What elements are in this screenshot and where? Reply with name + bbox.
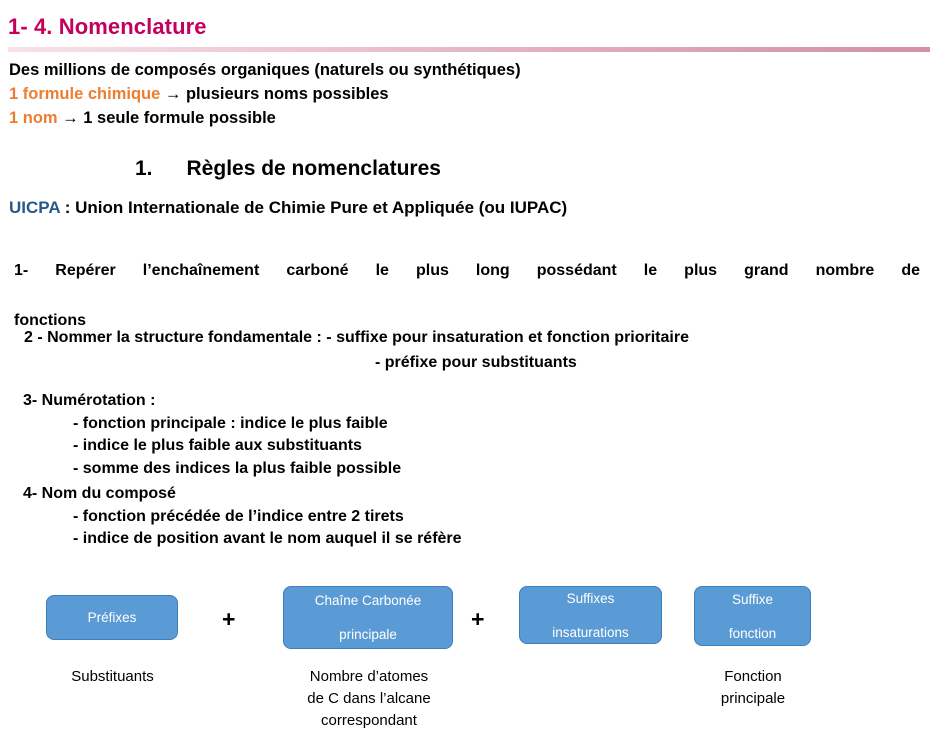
diagram-caption-nombre-line-2: de C dans l’alcane (307, 690, 430, 707)
rule-3: 3- Numérotation : - fonction principale … (23, 390, 401, 480)
page-title: 1- 4. Nomenclature (8, 14, 207, 40)
diagram-caption-fonction-line-1: Fonction (724, 668, 782, 685)
rule-4-item-1: - fonction précédée de l’indice entre 2 … (23, 506, 462, 529)
diagram-node-suffixes-line-1: Suffixes (546, 590, 635, 607)
diagram-node-suffixe-fonction-line-1: Suffixe (723, 591, 782, 608)
intro-line-3-highlight: 1 nom (9, 109, 58, 127)
rule-2: 2 - Nommer la structure fondamentale : -… (24, 325, 689, 375)
diagram-node-suffixes-insaturations: Suffixes insaturations (519, 586, 662, 644)
rule-4-title: 4- Nom du composé (23, 485, 176, 502)
rule-2-main: 2 - Nommer la structure fondamentale : -… (24, 329, 689, 346)
rule-2-sub: - préfixe pour substituants (24, 350, 689, 375)
rule-3-item-3: - somme des indices la plus faible possi… (23, 458, 401, 481)
rule-3-item-1: - fonction principale : indice le plus f… (23, 413, 401, 436)
diagram-plus-operator-2: + (471, 608, 484, 631)
section-heading-number: 1. (135, 157, 153, 180)
name-construction-diagram: Préfixes + Chaîne Carbonée principale + … (0, 586, 944, 750)
rule-3-item-2: - indice le plus faible aux substituants (23, 435, 401, 458)
diagram-node-prefixes: Préfixes (46, 595, 178, 640)
uicpa-definition-line: UICPA : Union Internationale de Chimie P… (9, 198, 567, 218)
diagram-node-chaine-line-1: Chaîne Carbonée (309, 592, 428, 609)
diagram-plus-operator-1: + (222, 608, 235, 631)
diagram-node-chaine-carbonee: Chaîne Carbonée principale (283, 586, 453, 649)
diagram-caption-nombre-atomes: Nombre d’atomes de C dans l’alcane corre… (283, 666, 455, 732)
diagram-node-suffixes-insaturations-label: Suffixes insaturations (540, 590, 641, 641)
uicpa-expansion: : Union Internationale de Chimie Pure et… (60, 198, 567, 217)
section-heading-text: Règles de nomenclatures (187, 157, 441, 180)
diagram-node-suffixe-fonction: Suffixe fonction (694, 586, 811, 646)
diagram-node-suffixe-fonction-line-2: fonction (723, 625, 782, 642)
rule-1: 1- Repérer l’enchaînement carboné le plu… (14, 258, 920, 333)
rule-1-line-1: 1- Repérer l’enchaînement carboné le plu… (14, 258, 920, 308)
diagram-node-prefixes-label: Préfixes (82, 609, 143, 626)
intro-line-3-rest: → 1 seule formule possible (58, 109, 276, 127)
diagram-caption-substituants: Substituants (40, 666, 185, 688)
diagram-caption-nombre-line-1: Nombre d’atomes (310, 668, 428, 685)
diagram-node-suffixe-fonction-label: Suffixe fonction (717, 591, 788, 642)
diagram-caption-fonction-principale: Fonction principale (692, 666, 814, 710)
rule-4-item-2: - indice de position avant le nom auquel… (23, 528, 462, 551)
diagram-node-suffixes-line-2: insaturations (546, 624, 635, 641)
diagram-caption-fonction-line-2: principale (721, 690, 785, 707)
uicpa-acronym: UICPA (9, 198, 60, 217)
intro-line-1: Des millions de composés organiques (nat… (9, 58, 521, 82)
intro-line-3: 1 nom → 1 seule formule possible (9, 106, 521, 130)
intro-line-2-highlight: 1 formule chimique (9, 85, 160, 103)
diagram-node-chaine-carbonee-label: Chaîne Carbonée principale (303, 592, 434, 643)
rule-3-title: 3- Numérotation : (23, 392, 155, 409)
title-divider (8, 47, 930, 52)
diagram-node-chaine-line-2: principale (309, 626, 428, 643)
section-heading: 1.Règles de nomenclatures (135, 157, 441, 181)
intro-line-2-rest: → plusieurs noms possibles (160, 85, 388, 103)
intro-paragraph: Des millions de composés organiques (nat… (9, 58, 521, 130)
intro-line-2: 1 formule chimique → plusieurs noms poss… (9, 82, 521, 106)
rule-4: 4- Nom du composé - fonction précédée de… (23, 483, 462, 551)
diagram-caption-nombre-line-3: correspondant (321, 712, 417, 729)
